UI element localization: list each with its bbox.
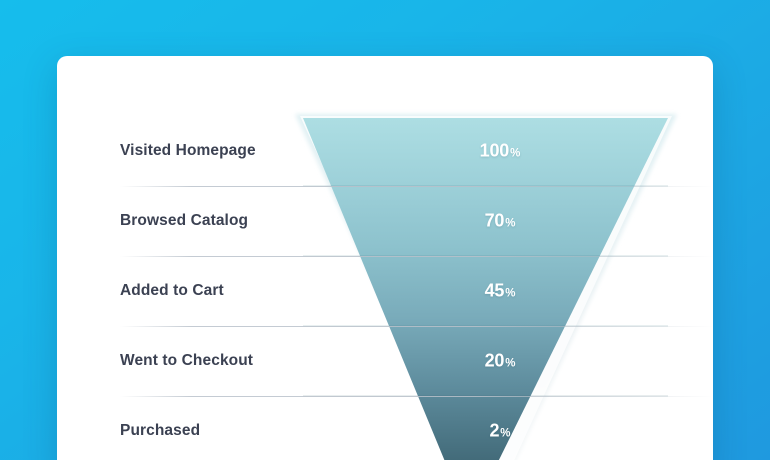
- row-divider: [120, 326, 713, 327]
- funnel-stage-list: Visited Homepage 100% Browsed Catalog 70…: [57, 56, 713, 460]
- percent-sign: %: [510, 148, 520, 160]
- stage-value-number: 20: [485, 351, 505, 371]
- percent-sign: %: [505, 288, 515, 300]
- funnel-stage-row[interactable]: Went to Checkout 20%: [57, 326, 713, 396]
- row-divider: [120, 396, 713, 397]
- stage-value-number: 2: [489, 421, 499, 441]
- funnel-stage-row[interactable]: Added to Cart 45%: [57, 256, 713, 326]
- percent-sign: %: [505, 358, 515, 370]
- stage-label: Browsed Catalog: [120, 212, 248, 230]
- stage-label: Added to Cart: [120, 282, 224, 300]
- stage-label: Went to Checkout: [120, 352, 253, 370]
- funnel-chart-card: Visited Homepage 100% Browsed Catalog 70…: [57, 56, 713, 460]
- stage-value: 20%: [470, 351, 530, 372]
- stage-label: Purchased: [120, 422, 200, 440]
- funnel-stage-row[interactable]: Browsed Catalog 70%: [57, 186, 713, 256]
- funnel-stage-row[interactable]: Purchased 2%: [57, 396, 713, 460]
- percent-sign: %: [500, 428, 510, 440]
- stage-value-number: 70: [485, 211, 505, 231]
- row-divider: [120, 256, 713, 257]
- percent-sign: %: [505, 218, 515, 230]
- stage-label: Visited Homepage: [120, 142, 256, 160]
- stage-value: 70%: [470, 211, 530, 232]
- stage-value: 45%: [470, 281, 530, 302]
- funnel-stage-row[interactable]: Visited Homepage 100%: [57, 116, 713, 186]
- row-divider: [120, 186, 713, 187]
- stage-value-number: 100: [480, 141, 509, 161]
- stage-value-number: 45: [485, 281, 505, 301]
- stage-value: 100%: [470, 141, 530, 162]
- stage-value: 2%: [470, 421, 530, 442]
